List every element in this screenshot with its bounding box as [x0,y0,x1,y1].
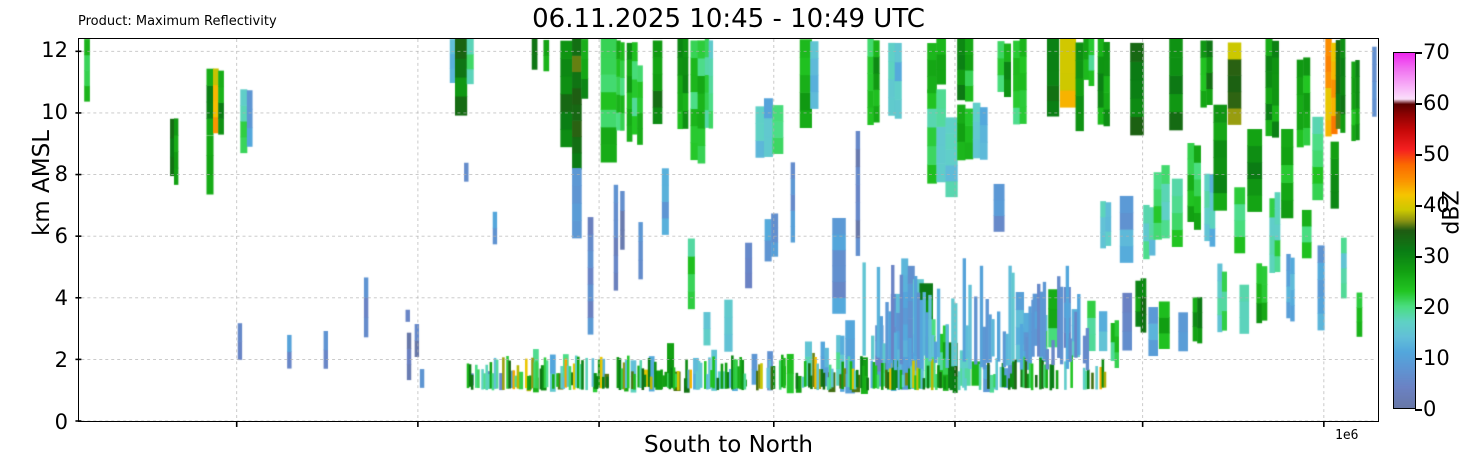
colorbar-gradient [1394,53,1415,408]
y-tick-label-6: 6 [55,224,68,248]
product-label: Product: Maximum Reflectivity [78,14,277,29]
colorbar-tick-label-0: 0 [1423,397,1436,421]
y-tick-label-4: 4 [55,286,68,310]
radar-cross-section-figure: 06.11.2025 10:45 - 10:49 UTC Product: Ma… [0,0,1482,470]
colorbar-tick-mark-70 [1415,52,1422,54]
y-tick-label-group: 024681012 [0,38,68,422]
colorbar-tick-label-60: 60 [1423,91,1450,115]
colorbar-tick-label-20: 20 [1423,295,1450,319]
y-tick-label-0: 0 [55,410,68,434]
colorbar-tick-label-70: 70 [1423,40,1450,64]
x-axis-label: South to North [78,432,1379,458]
y-tick-label-2: 2 [55,348,68,372]
colorbar [1393,52,1416,409]
y-tick-label-8: 8 [55,162,68,186]
colorbar-tick-mark-20 [1415,307,1422,309]
y-tick-label-12: 12 [41,38,68,62]
colorbar-tick-mark-40 [1415,205,1422,207]
colorbar-tick-label-10: 10 [1423,346,1450,370]
colorbar-tick-mark-10 [1415,358,1422,360]
x-axis-offset-label: 1e6 [1335,428,1358,443]
colorbar-label: dBZ [1440,153,1465,273]
colorbar-tick-mark-50 [1415,154,1422,156]
colorbar-tick-mark-30 [1415,256,1422,258]
reflectivity-heatmap-canvas [79,39,1380,423]
colorbar-tick-mark-0 [1415,409,1422,411]
y-tick-label-10: 10 [41,100,68,124]
plot-area [78,38,1379,422]
colorbar-tick-mark-60 [1415,103,1422,105]
